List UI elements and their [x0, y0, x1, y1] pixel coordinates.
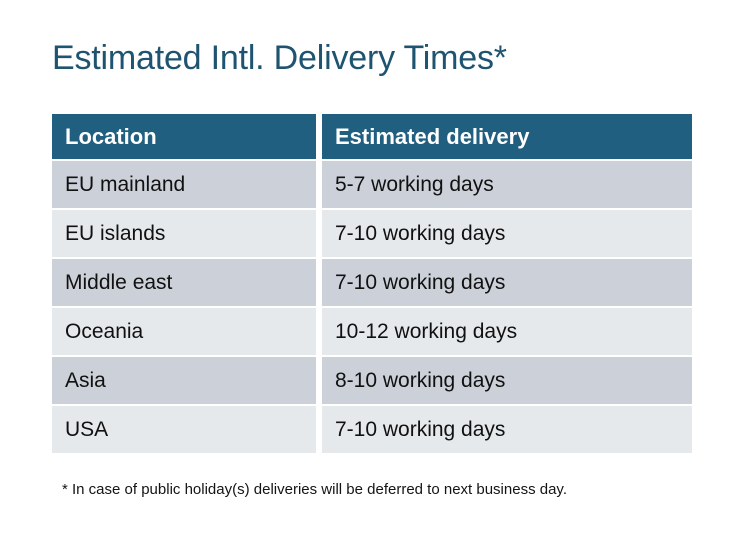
- table-row: Middle east 7-10 working days: [52, 259, 692, 306]
- cell-location: EU mainland: [52, 161, 316, 208]
- table-row: Asia 8-10 working days: [52, 357, 692, 404]
- delivery-times-table: Location Estimated delivery EU mainland …: [52, 114, 692, 455]
- cell-estimated-delivery: 7-10 working days: [322, 406, 692, 453]
- table-row: USA 7-10 working days: [52, 406, 692, 453]
- cell-location: Asia: [52, 357, 316, 404]
- cell-estimated-delivery: 8-10 working days: [322, 357, 692, 404]
- table-row: EU mainland 5-7 working days: [52, 161, 692, 208]
- column-header-estimated-delivery: Estimated delivery: [322, 114, 692, 159]
- cell-estimated-delivery: 7-10 working days: [322, 210, 692, 257]
- cell-estimated-delivery: 5-7 working days: [322, 161, 692, 208]
- column-header-location: Location: [52, 114, 316, 159]
- cell-location: EU islands: [52, 210, 316, 257]
- cell-location: Middle east: [52, 259, 316, 306]
- cell-estimated-delivery: 10-12 working days: [322, 308, 692, 355]
- page-title: Estimated Intl. Delivery Times*: [52, 36, 507, 80]
- table-row: Oceania 10-12 working days: [52, 308, 692, 355]
- cell-location: Oceania: [52, 308, 316, 355]
- table-header-row: Location Estimated delivery: [52, 114, 692, 159]
- cell-estimated-delivery: 7-10 working days: [322, 259, 692, 306]
- cell-location: USA: [52, 406, 316, 453]
- delivery-times-page: Estimated Intl. Delivery Times* Location…: [0, 0, 745, 536]
- footnote: * In case of public holiday(s) deliverie…: [62, 480, 567, 500]
- table-row: EU islands 7-10 working days: [52, 210, 692, 257]
